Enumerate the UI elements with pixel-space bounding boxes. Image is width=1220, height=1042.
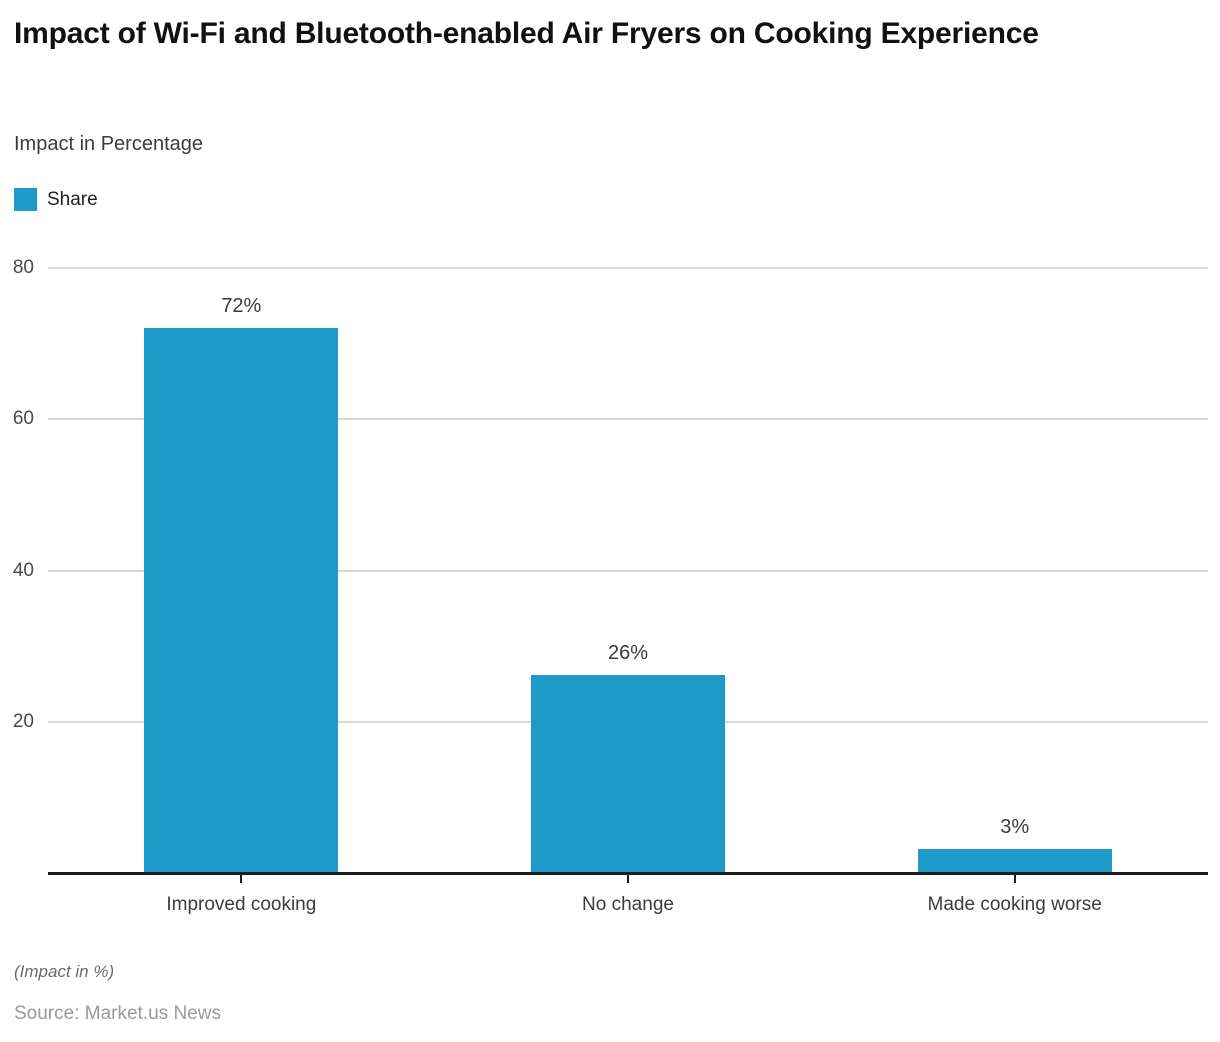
x-axis-tick-mark xyxy=(240,875,242,883)
x-axis-tick-mark xyxy=(1014,875,1016,883)
y-axis-tick-label: 60 xyxy=(13,408,34,430)
footer-note: (Impact in %) xyxy=(14,962,114,982)
x-axis-category-label: No change xyxy=(582,894,674,916)
footer-source: Source: Market.us News xyxy=(14,1003,221,1025)
legend-label-share: Share xyxy=(47,189,98,211)
legend-item-share[interactable]: Share xyxy=(14,188,98,211)
x-axis-tick-mark xyxy=(627,875,629,883)
x-axis-category-label: Made cooking worse xyxy=(928,894,1102,916)
plot-area: 20406080 72%26%3% Improved cookingNo cha… xyxy=(48,250,1208,875)
chart-legend: Share xyxy=(14,188,98,211)
bar[interactable] xyxy=(918,849,1112,872)
y-axis-tick-label: 20 xyxy=(13,711,34,733)
x-axis-category-label: Improved cooking xyxy=(166,894,316,916)
bar[interactable] xyxy=(531,675,725,872)
y-axis-tick-label: 80 xyxy=(13,257,34,279)
gridline: 80 xyxy=(48,267,1208,269)
chart-canvas: Impact of Wi-Fi and Bluetooth-enabled Ai… xyxy=(0,0,1220,1042)
y-axis-tick-label: 40 xyxy=(13,560,34,582)
legend-swatch-share xyxy=(14,188,37,211)
page-title: Impact of Wi-Fi and Bluetooth-enabled Ai… xyxy=(14,14,1074,54)
bar-value-label: 72% xyxy=(221,295,261,318)
bar[interactable] xyxy=(144,328,338,873)
bar-value-label: 3% xyxy=(1000,816,1029,839)
bar-value-label: 26% xyxy=(608,642,648,665)
chart-subtitle: Impact in Percentage xyxy=(14,133,203,156)
